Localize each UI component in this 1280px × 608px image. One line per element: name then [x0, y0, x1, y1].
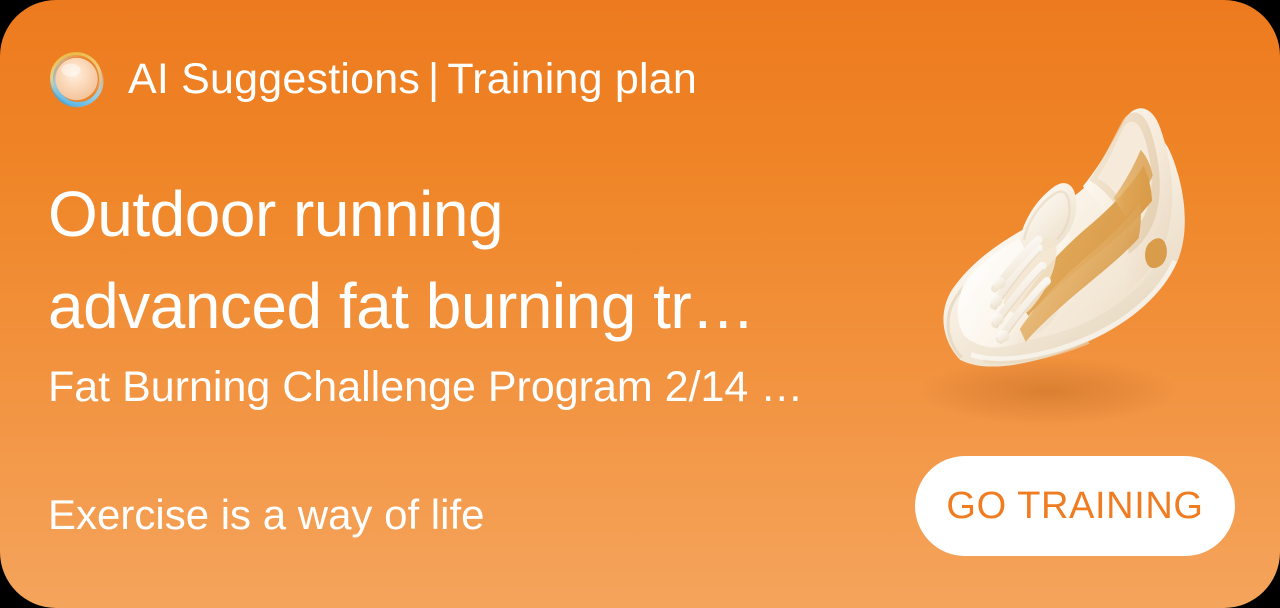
header-label-primary: AI Suggestions: [128, 55, 420, 103]
header-separator: |: [420, 58, 447, 101]
headline-line-2: advanced fat burning tr…: [48, 260, 908, 352]
ai-orb-icon: [48, 50, 106, 108]
header-title: AI Suggestions|Training plan: [128, 58, 697, 101]
running-shoe-illustration: [898, 86, 1238, 436]
motivational-tagline: Exercise is a way of life: [48, 490, 485, 540]
card-text-block: Outdoor running advanced fat burning tr……: [48, 168, 908, 414]
ai-suggestion-training-card: AI Suggestions|Training plan Outdoor run…: [0, 0, 1280, 608]
card-header: AI Suggestions|Training plan: [48, 48, 697, 110]
go-training-button[interactable]: GO TRAINING: [915, 456, 1235, 556]
header-label-secondary: Training plan: [447, 55, 697, 103]
program-subtitle: Fat Burning Challenge Program 2/14 …: [48, 362, 908, 414]
headline-line-1: Outdoor running: [48, 168, 908, 260]
page-title: Outdoor running advanced fat burning tr…: [48, 168, 908, 352]
